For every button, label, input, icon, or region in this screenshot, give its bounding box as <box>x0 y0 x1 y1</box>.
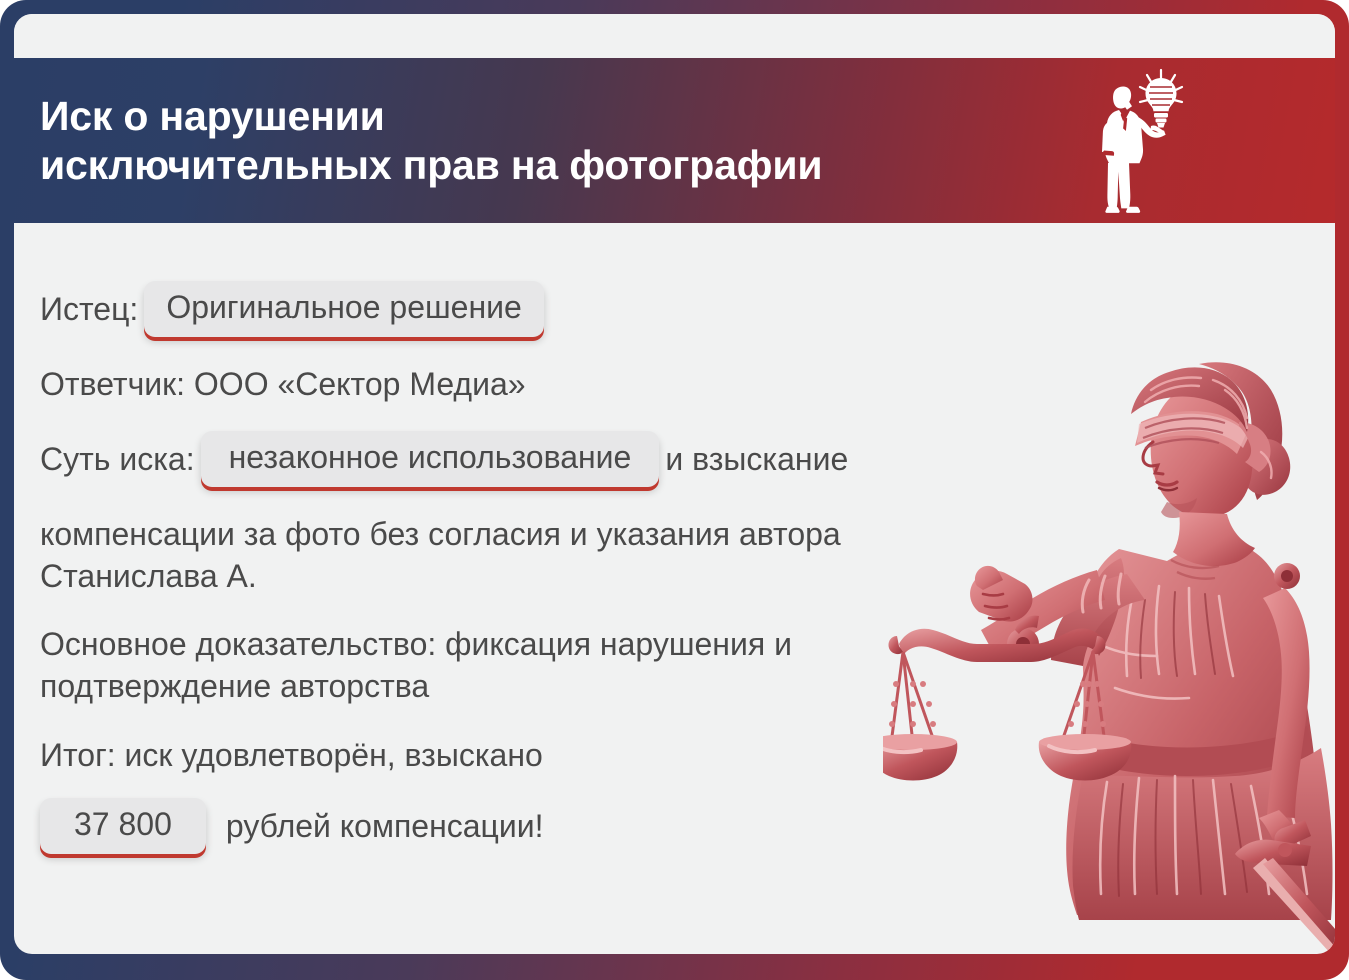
claim-continuation: компенсации за фото без согласия и указа… <box>40 513 920 597</box>
lady-justice-illustration <box>883 344 1335 954</box>
amount-tail: рублей компенсации! <box>226 805 544 847</box>
claim-tail: и взыскание <box>665 438 848 480</box>
claim-row: Суть иска: незаконное использование и вз… <box>40 431 920 487</box>
claim-label: Суть иска: <box>40 438 195 480</box>
result-row: Итог: иск удовлетворён, взыскано <box>40 734 920 776</box>
businessman-with-lightbulb-icon <box>1083 64 1193 219</box>
amount-chip[interactable]: 37 800 <box>40 798 206 854</box>
amount-row: 37 800 рублей компенсации! <box>40 798 920 854</box>
card-top-strip <box>14 14 1335 58</box>
plaintiff-label: Истец: <box>40 288 138 330</box>
plaintiff-row: Истец: Оригинальное решение <box>40 281 920 337</box>
card-header: Иск о нарушении исключительных прав на ф… <box>14 58 1335 223</box>
defendant-row: Ответчик: ООО «Сектор Медиа» <box>40 363 920 405</box>
card-frame: Иск о нарушении исключительных прав на ф… <box>0 0 1349 980</box>
card-body: Истец: Оригинальное решение Ответчик: ОО… <box>14 223 1335 954</box>
page-title: Иск о нарушении исключительных прав на ф… <box>40 92 822 189</box>
plaintiff-chip[interactable]: Оригинальное решение <box>144 281 543 337</box>
claim-chip[interactable]: незаконное использование <box>201 431 660 487</box>
evidence-row: Основное доказательство: фиксация наруше… <box>40 623 920 707</box>
case-card: Иск о нарушении исключительных прав на ф… <box>14 14 1335 954</box>
